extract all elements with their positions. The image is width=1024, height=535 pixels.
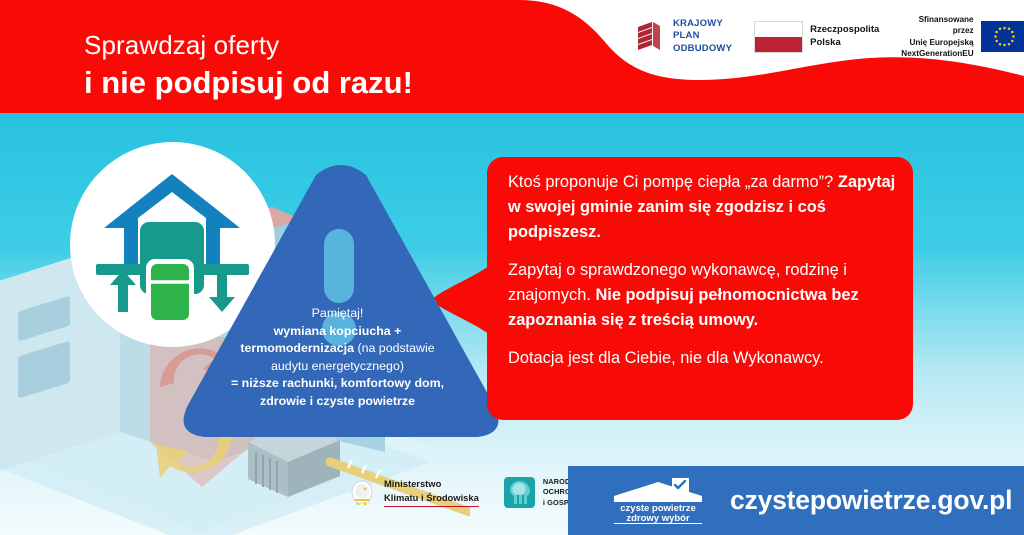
infographic-banner: Sprawdzaj oferty i nie podpisuj od razu!… [0,0,1024,535]
website-url[interactable]: czystepowietrze.gov.pl [730,485,1012,516]
ministry-line-1: Ministerstwo [384,478,479,490]
triangle-line-3-rest: (na podstawie [354,341,435,355]
eu-line-1: Sfinansowane przez [901,14,973,37]
ministry-logo-text: Ministerstwo Klimatu i Środowiska [384,478,479,508]
top-logo-row: KRAJOWY PLAN ODBUDOWY Rzeczpospolita Pol… [636,14,1024,59]
triangle-line-5-bold: = niższe rachunki, komfortowy dom, [231,376,444,390]
speech-bubble-text: Ktoś proponuje Ci pompę ciepła „za darmo… [508,170,908,371]
czyste-powietrze-logo: czyste powietrze zdrowy wybór [608,478,708,524]
triangle-line-4: audytu energetycznego) [200,358,475,376]
header-text: Sprawdzaj oferty i nie podpisuj od razu! [84,30,413,101]
triangle-line-3-bold: termomodernizacja [240,341,354,355]
eu-stars-icon [981,21,1024,52]
triangle-line-6-bold: zdrowie i czyste powietrze [260,394,415,408]
triangle-line-5: = niższe rachunki, komfortowy dom, [200,375,475,393]
bubble-paragraph-2: Zapytaj o sprawdzonego wykonawcę, rodzin… [508,258,908,333]
bubble-paragraph-1: Ktoś proponuje Ci pompę ciepła „za darmo… [508,170,908,245]
kpo-mark-icon [636,20,666,53]
eu-flag-icon [981,21,1024,52]
warning-triangle-text: Pamiętaj! wymiana kopciucha + termomoder… [200,305,475,411]
bubble-p1-regular: Ktoś proponuje Ci pompę ciepła „za darmo… [508,173,833,191]
nfosigw-mark-icon [503,476,536,509]
kpo-line-2: PLAN [673,30,732,43]
czyste-powietrze-logo-svg: czyste powietrze zdrowy wybór [608,478,708,524]
ministry-line-2: Klimatu i Środowiska [384,492,479,504]
kpo-line-3: ODBUDOWY [673,43,732,56]
footer-bar: czyste powietrze zdrowy wybór czystepowi… [568,466,1024,535]
triangle-line-2-bold: wymiana kopciucha + [274,324,402,338]
cp-logo-line-2: zdrowy wybór [626,513,690,524]
eu-line-3: NextGenerationEU [901,48,973,59]
polish-flag-icon [754,21,803,53]
eu-funding-logo: Sfinansowane przez Unię Europejską NextG… [901,14,1024,59]
rp-line-1: Rzeczpospolita [810,24,879,37]
triangle-line-1: Pamiętaj! [200,305,475,323]
header-line-1: Sprawdzaj oferty [84,30,413,61]
ministry-logo: Ministerstwo Klimatu i Środowiska [346,477,479,509]
republic-of-poland-logo: Rzeczpospolita Polska [754,21,879,53]
polish-eagle-icon [346,477,378,509]
kpo-logo-text: KRAJOWY PLAN ODBUDOWY [673,18,732,56]
triangle-line-3: termomodernizacja (na podstawie [200,340,475,358]
triangle-line-6: zdrowie i czyste powietrze [200,393,475,411]
eu-line-2: Unię Europejską [901,37,973,48]
header-line-2: i nie podpisuj od razu! [84,64,413,101]
ministry-rule [384,506,479,508]
rp-line-2: Polska [810,37,879,50]
bubble-paragraph-3: Dotacja jest dla Ciebie, nie dla Wykonaw… [508,346,908,371]
eu-logo-text: Sfinansowane przez Unię Europejską NextG… [901,14,973,59]
rp-logo-text: Rzeczpospolita Polska [810,24,879,50]
kpo-line-1: KRAJOWY [673,18,732,31]
triangle-line-2: wymiana kopciucha + [200,323,475,341]
kpo-logo: KRAJOWY PLAN ODBUDOWY [636,18,732,56]
